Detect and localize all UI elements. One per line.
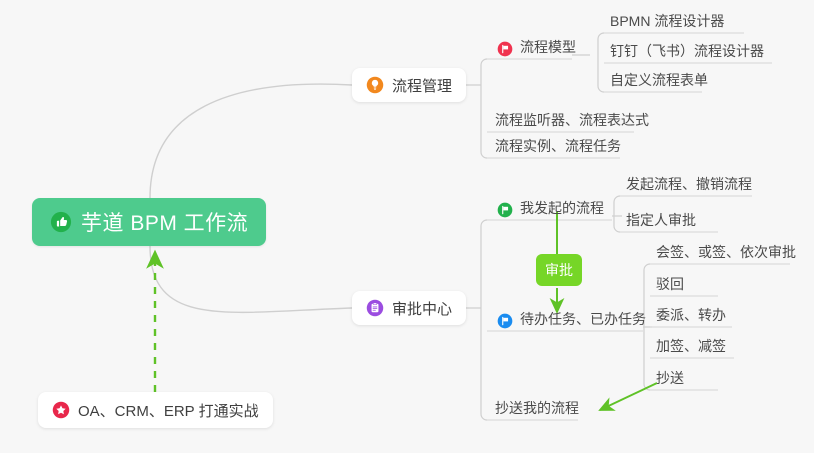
label-start-cancel-process: 发起流程、撤销流程 bbox=[626, 174, 752, 194]
label-cc-to-me-process: 抄送我的流程 bbox=[495, 398, 579, 418]
lightbulb-icon bbox=[366, 76, 384, 94]
clipboard-icon bbox=[366, 299, 384, 317]
node-cc[interactable]: 抄送 bbox=[652, 363, 690, 390]
label-add-remove-sign: 加签、减签 bbox=[656, 336, 726, 356]
tag-approval-label: 审批 bbox=[545, 260, 573, 280]
label-custom-process-form: 自定义流程表单 bbox=[610, 70, 708, 90]
link-root-to-process-management bbox=[150, 84, 352, 198]
node-add-remove-sign[interactable]: 加签、减签 bbox=[652, 331, 732, 358]
branch-label-approval-center: 审批中心 bbox=[392, 298, 452, 319]
arrow-cc-to-process bbox=[600, 383, 657, 410]
label-process-instance-task: 流程实例、流程任务 bbox=[495, 136, 621, 156]
flag-icon bbox=[497, 41, 513, 57]
root-node[interactable]: 芋道 BPM 工作流 bbox=[32, 198, 266, 246]
node-custom-process-form[interactable]: 自定义流程表单 bbox=[606, 65, 714, 92]
branch-node-process-management[interactable]: 流程管理 bbox=[352, 68, 466, 102]
node-start-cancel-process[interactable]: 发起流程、撤销流程 bbox=[622, 169, 758, 196]
branch-node-approval-center[interactable]: 审批中心 bbox=[352, 291, 466, 325]
footnote-node-oa-crm-erp[interactable]: OA、CRM、ERP 打通实战 bbox=[38, 392, 273, 428]
label-designated-approver: 指定人审批 bbox=[626, 210, 696, 230]
label-process-model: 流程模型 bbox=[520, 37, 576, 57]
label-process-listener-expression: 流程监听器、流程表达式 bbox=[495, 110, 649, 130]
flag-icon bbox=[497, 313, 513, 329]
node-delegate-transfer[interactable]: 委派、转办 bbox=[652, 300, 732, 327]
label-delegate-transfer: 委派、转办 bbox=[656, 305, 726, 325]
link-my-initiated-bracket bbox=[614, 196, 620, 232]
footnote-label: OA、CRM、ERP 打通实战 bbox=[78, 400, 259, 421]
mindmap-canvas: 芋道 BPM 工作流 流程管理 流程模型 流程监听器、流程表达式 流程实例、流 bbox=[0, 0, 814, 453]
label-my-initiated-process: 我发起的流程 bbox=[520, 198, 604, 218]
link-approval-center-bracket bbox=[481, 220, 487, 420]
label-reject: 驳回 bbox=[656, 274, 684, 294]
link-root-to-approval-center bbox=[150, 246, 352, 312]
node-reject[interactable]: 驳回 bbox=[652, 269, 690, 296]
star-icon bbox=[52, 401, 70, 419]
node-cc-to-me-process[interactable]: 抄送我的流程 bbox=[491, 393, 585, 420]
node-process-listener-expression[interactable]: 流程监听器、流程表达式 bbox=[491, 105, 655, 132]
link-process-management-bracket bbox=[481, 59, 487, 158]
node-designated-approver[interactable]: 指定人审批 bbox=[622, 205, 702, 232]
node-process-instance-task[interactable]: 流程实例、流程任务 bbox=[491, 131, 627, 158]
root-label: 芋道 BPM 工作流 bbox=[81, 207, 248, 237]
label-todo-done-tasks: 待办任务、已办任务 bbox=[520, 309, 646, 329]
label-cc: 抄送 bbox=[656, 368, 684, 388]
node-my-initiated-process[interactable]: 我发起的流程 bbox=[493, 193, 610, 220]
link-process-model-bracket bbox=[598, 33, 604, 92]
tag-approval[interactable]: 审批 bbox=[536, 254, 582, 286]
label-bpmn-designer: BPMN 流程设计器 bbox=[610, 11, 724, 31]
node-todo-done-tasks[interactable]: 待办任务、已办任务 bbox=[493, 304, 652, 331]
node-dingtalk-feishu-designer[interactable]: 钉钉（飞书）流程设计器 bbox=[606, 36, 770, 63]
thumbs-up-icon bbox=[50, 211, 72, 233]
branch-label-process-management: 流程管理 bbox=[392, 75, 452, 96]
node-process-model[interactable]: 流程模型 bbox=[493, 32, 582, 59]
node-countersign-orsign-sequential[interactable]: 会签、或签、依次审批 bbox=[652, 237, 802, 264]
flag-icon bbox=[497, 202, 513, 218]
label-dingtalk-feishu-designer: 钉钉（飞书）流程设计器 bbox=[610, 41, 764, 61]
label-countersign-orsign-sequential: 会签、或签、依次审批 bbox=[656, 242, 796, 262]
node-bpmn-designer[interactable]: BPMN 流程设计器 bbox=[606, 6, 730, 33]
